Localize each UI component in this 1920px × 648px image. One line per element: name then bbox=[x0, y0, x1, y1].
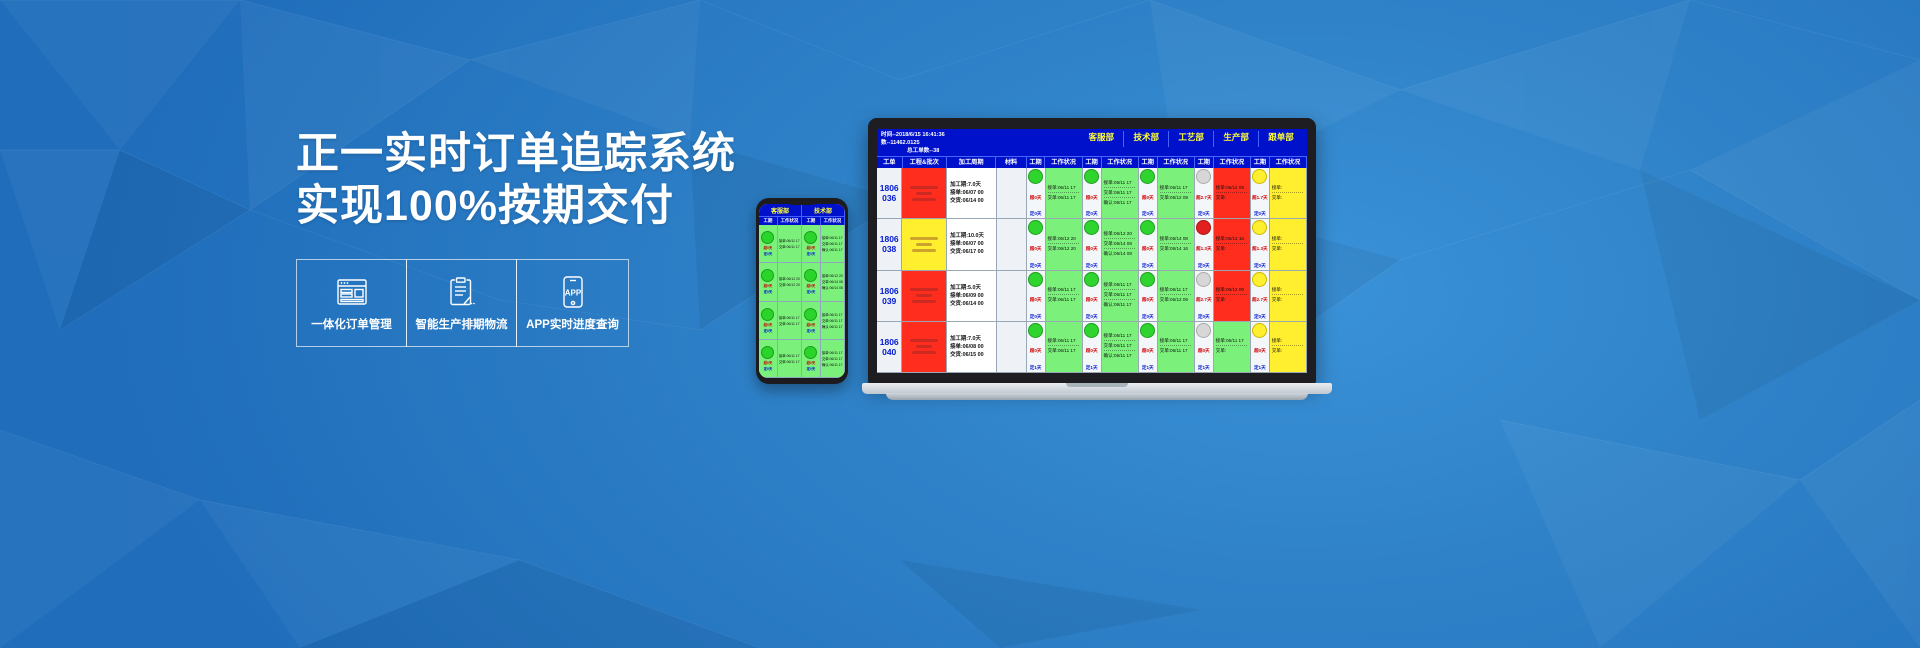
over-tag: 超0天 bbox=[1030, 297, 1042, 303]
over-tag: 超0天 bbox=[764, 245, 773, 250]
phone-status-cell: 接单:06/11 17交单:06/11 17确认:06/11 17 bbox=[821, 225, 845, 262]
status-line: 交单: bbox=[1216, 246, 1248, 253]
status-line: 接单: bbox=[1272, 185, 1304, 193]
fix-tag: 定0天 bbox=[807, 328, 816, 333]
fix-tag: 定0天 bbox=[807, 366, 816, 371]
status-line: 确认:06/11 17 bbox=[1104, 302, 1136, 309]
status-dot-icon bbox=[761, 346, 774, 359]
status-dot-icon bbox=[761, 269, 774, 282]
status-dot-icon bbox=[761, 308, 774, 321]
dashboard-header: 时间--2018/6/15 16:41:36 数--11462.0125 客服部… bbox=[877, 129, 1307, 156]
over-tag: 超0天 bbox=[1030, 195, 1042, 201]
fix-tag: 定0天 bbox=[764, 251, 773, 256]
phone-col-status-1: 工作状况 bbox=[778, 216, 802, 225]
status-line: 接单:06/11 17 bbox=[822, 312, 843, 317]
status-line: 接单:06/11 17 bbox=[822, 235, 843, 240]
mobile-app-icon: APP bbox=[562, 275, 584, 309]
over-tag: 超0天 bbox=[807, 245, 816, 250]
status-cell-2[interactable]: 接单:06/14 08交单:06/14 16 bbox=[1158, 219, 1195, 269]
cycle-line: 交货:06/17 00 bbox=[950, 248, 984, 256]
table-row[interactable]: 1806040加工期:7.0天接单:06/08 00交货:06/15 00超0天… bbox=[877, 322, 1307, 373]
status-dot-icon bbox=[1140, 220, 1155, 235]
phone-department-header: 客服部 技术部 bbox=[759, 204, 845, 216]
phone-table-row[interactable]: 超0天定0天接单:06/11 17交单:06/11 17超0天定0天接单:06/… bbox=[759, 340, 845, 378]
status-line: 交单:06/11 17 bbox=[1104, 190, 1136, 198]
status-cell-4[interactable]: 接单:交单: bbox=[1270, 322, 1307, 372]
over-tag: 超1.3天 bbox=[1196, 246, 1212, 252]
status-line: 接单:06/12 20 bbox=[1104, 231, 1136, 239]
status-line: 接单: bbox=[1272, 338, 1304, 346]
status-line: 接单:06/11 17 bbox=[1104, 333, 1136, 341]
phone-col-duration-1: 工期 bbox=[759, 216, 778, 225]
phone-status-cell: 接单:06/12 20交单:06/12 20 bbox=[778, 263, 802, 300]
status-dot-icon bbox=[1196, 323, 1211, 338]
status-dot-icon bbox=[804, 308, 817, 321]
over-tag: 超0天 bbox=[807, 283, 816, 288]
status-line: 接单:06/11 17 bbox=[822, 350, 843, 355]
duration-cell-1[interactable]: 超0天定0天 bbox=[1083, 168, 1102, 218]
status-line: 交单:06/11 17 bbox=[779, 321, 800, 326]
redacted-line bbox=[916, 243, 932, 246]
cycle-line: 交货:06/14 00 bbox=[950, 300, 984, 308]
fix-tag: 定0天 bbox=[1254, 211, 1266, 217]
status-line: 接单:06/11 17 bbox=[779, 353, 800, 358]
fix-tag: 定0天 bbox=[1198, 263, 1210, 269]
phone-duration-cell: 超0天定0天 bbox=[802, 302, 821, 339]
duration-cell-0[interactable]: 超0天定0天 bbox=[1027, 219, 1046, 269]
status-cell-2[interactable]: 接单:06/11 17交单:06/12 09 bbox=[1158, 168, 1195, 218]
order-number-cell: 1806040 bbox=[877, 322, 902, 372]
redacted-line bbox=[916, 345, 932, 348]
dashboard-row-list: 1806036加工期:7.0天接单:06/07 00交货:06/14 00超0天… bbox=[877, 168, 1307, 373]
over-tag: 超0天 bbox=[1030, 348, 1042, 354]
col-process: 工程&批次 bbox=[903, 157, 947, 168]
col-duration-3: 工期 bbox=[1195, 157, 1214, 168]
status-line: 交单:06/11 17 bbox=[1048, 348, 1080, 355]
order-line-1: 1806 bbox=[880, 286, 899, 296]
status-dot-icon bbox=[1252, 323, 1267, 338]
status-cell-1[interactable]: 接单:06/11 17交单:06/11 17确认:06/11 17 bbox=[1102, 271, 1139, 321]
status-cell-0[interactable]: 接单:06/11 17交单:06/11 17 bbox=[1046, 271, 1083, 321]
status-line: 接单:06/12 20 bbox=[822, 273, 843, 278]
status-cell-1[interactable]: 接单:06/11 17交单:06/11 17确认:06/11 17 bbox=[1102, 322, 1139, 372]
over-tag: 超0天 bbox=[764, 322, 773, 327]
status-line: 交单:06/11 17 bbox=[1048, 195, 1080, 202]
status-line: 接单:06/14 16 bbox=[1216, 236, 1248, 244]
fix-tag: 定0天 bbox=[1198, 211, 1210, 217]
order-line-2: 039 bbox=[882, 296, 896, 306]
status-line: 交单:06/14 08 bbox=[822, 279, 843, 284]
order-number-cell: 1806039 bbox=[877, 271, 902, 321]
phone-col-status-2: 工作状况 bbox=[821, 216, 845, 225]
process-batch-cell bbox=[902, 168, 947, 218]
duration-cell-0[interactable]: 超0天定0天 bbox=[1027, 168, 1046, 218]
redacted-line bbox=[912, 300, 936, 303]
status-line: 交单: bbox=[1272, 246, 1304, 253]
laptop-foot bbox=[886, 393, 1308, 400]
feature-label: 智能生产排期物流 bbox=[416, 316, 508, 332]
duration-cell-2[interactable]: 超0天定0天 bbox=[1139, 219, 1158, 269]
over-tag: 超1.7天 bbox=[1252, 195, 1268, 201]
status-line: 交单:06/12 09 bbox=[1160, 297, 1192, 304]
status-line: 交单: bbox=[1216, 195, 1248, 202]
order-line-2: 040 bbox=[882, 347, 896, 357]
fix-tag: 定1天 bbox=[1198, 365, 1210, 371]
dept-process: 工艺部 bbox=[1169, 131, 1214, 147]
over-tag: 超0天 bbox=[1086, 297, 1098, 303]
duration-cell-3[interactable]: 超2.7天定0天 bbox=[1195, 168, 1214, 218]
cycle-line: 加工期:7.0天 bbox=[950, 181, 981, 189]
status-line: 交单: bbox=[1272, 297, 1304, 304]
status-line: 接单:06/11 17 bbox=[779, 238, 800, 243]
status-line: 确认:06/11 17 bbox=[822, 362, 843, 367]
over-tag: 超0天 bbox=[807, 322, 816, 327]
order-line-2: 038 bbox=[882, 244, 896, 254]
phone-mockup: 客服部 技术部 工期 工作状况 工期 工作状况 超0天定0天接单:06/11 1… bbox=[756, 198, 848, 384]
redacted-line bbox=[910, 288, 938, 291]
fix-tag: 定0天 bbox=[764, 366, 773, 371]
headline-line-1: 正一实时订单追踪系统 bbox=[296, 128, 916, 180]
dashboard-department-header: 客服部 技术部 工艺部 生产部 跟单部 bbox=[1079, 131, 1303, 147]
phone-screen[interactable]: 客服部 技术部 工期 工作状况 工期 工作状况 超0天定0天接单:06/11 1… bbox=[759, 204, 845, 378]
over-tag: 超1.3天 bbox=[1252, 246, 1268, 252]
col-duration-2: 工期 bbox=[1139, 157, 1158, 168]
dashboard-timestamp: 时间--2018/6/15 16:41:36 bbox=[881, 131, 1079, 139]
status-dot-icon bbox=[1028, 169, 1043, 184]
redacted-line bbox=[912, 249, 936, 252]
status-line: 接单: bbox=[1272, 236, 1304, 244]
status-cell-2[interactable]: 接单:06/11 17交单:06/11 17 bbox=[1158, 322, 1195, 372]
phone-table-row[interactable]: 超0天定0天接单:06/11 17交单:06/11 17超0天定0天接单:06/… bbox=[759, 302, 845, 340]
over-tag: 超0天 bbox=[1142, 348, 1154, 354]
svg-text:APP: APP bbox=[564, 288, 581, 297]
laptop-mockup: 时间--2018/6/15 16:41:36 数--11462.0125 客服部… bbox=[862, 118, 1332, 418]
duration-cell-0[interactable]: 超0天定1天 bbox=[1027, 322, 1046, 372]
status-line: 接单: bbox=[1272, 287, 1304, 295]
dept-technical: 技术部 bbox=[1124, 131, 1169, 147]
status-cell-3[interactable]: 接单:06/11 17交单: bbox=[1214, 322, 1251, 372]
status-line: 确认:06/11 17 bbox=[822, 247, 843, 252]
duration-cell-1[interactable]: 超0天定0天 bbox=[1083, 271, 1102, 321]
status-line: 确认:06/11 17 bbox=[1104, 353, 1136, 360]
order-line-1: 1806 bbox=[880, 337, 899, 347]
status-dot-icon bbox=[1196, 272, 1211, 287]
status-line: 确认:06/11 17 bbox=[1104, 200, 1136, 207]
phone-status-cell: 接单:06/12 20交单:06/14 08确认:06/14 08 bbox=[821, 263, 845, 300]
laptop-screen[interactable]: 时间--2018/6/15 16:41:36 数--11462.0125 客服部… bbox=[877, 129, 1307, 373]
phone-status-cell: 接单:06/11 17交单:06/11 17确认:06/11 17 bbox=[821, 340, 845, 377]
phone-table-row[interactable]: 超0天定0天接单:06/12 20交单:06/12 20超0天定0天接单:06/… bbox=[759, 263, 845, 301]
status-line: 接单:06/12 20 bbox=[779, 276, 800, 281]
status-line: 接单:06/11 17 bbox=[1104, 180, 1136, 188]
status-dot-icon bbox=[1028, 220, 1043, 235]
dept-merchandising: 跟单部 bbox=[1259, 131, 1303, 147]
status-dot-icon bbox=[1140, 323, 1155, 338]
status-dot-icon bbox=[1196, 169, 1211, 184]
feature-app-tracking[interactable]: APP APP实时进度查询 bbox=[516, 259, 629, 347]
fix-tag: 定1天 bbox=[1142, 365, 1154, 371]
fix-tag: 定0天 bbox=[1142, 314, 1154, 320]
status-line: 交单:06/12 20 bbox=[1048, 246, 1080, 253]
duration-cell-4[interactable]: 超2.7天定0天 bbox=[1251, 271, 1270, 321]
phone-duration-cell: 超0天定0天 bbox=[802, 225, 821, 262]
status-cell-0[interactable]: 接单:06/11 17交单:06/11 17 bbox=[1046, 322, 1083, 372]
material-cell bbox=[997, 322, 1027, 372]
phone-table-row[interactable]: 超0天定0天接单:06/11 17交单:06/11 17超0天定0天接单:06/… bbox=[759, 225, 845, 263]
col-cycle: 加工周期 bbox=[947, 157, 997, 168]
cycle-cell: 加工期:10.0天接单:06/07 00交货:06/17 00 bbox=[947, 219, 997, 269]
status-line: 确认:06/11 17 bbox=[822, 324, 843, 329]
fix-tag: 定0天 bbox=[1086, 314, 1098, 320]
fix-tag: 定0天 bbox=[807, 251, 816, 256]
phone-status-cell: 接单:06/11 17交单:06/11 17 bbox=[778, 225, 802, 262]
phone-notch bbox=[787, 200, 817, 205]
fix-tag: 定0天 bbox=[1030, 211, 1042, 217]
status-cell-3[interactable]: 接单:06/14 16交单: bbox=[1214, 219, 1251, 269]
col-order: 工单 bbox=[877, 157, 903, 168]
feature-label: 一体化订单管理 bbox=[311, 316, 392, 332]
phone-status-cell: 接单:06/11 17交单:06/11 17 bbox=[778, 340, 802, 377]
over-tag: 超0天 bbox=[1142, 246, 1154, 252]
status-dot-icon bbox=[1140, 169, 1155, 184]
fix-tag: 定1天 bbox=[1086, 365, 1098, 371]
redacted-line bbox=[912, 351, 936, 354]
phone-status-cell: 接单:06/11 17交单:06/11 17 bbox=[778, 302, 802, 339]
over-tag: 超2.7天 bbox=[1196, 297, 1212, 303]
cycle-line: 加工期:5.0天 bbox=[950, 284, 981, 292]
over-tag: 超0天 bbox=[1142, 297, 1154, 303]
status-cell-4[interactable]: 接单:交单: bbox=[1270, 271, 1307, 321]
col-status-1: 工作状况 bbox=[1102, 157, 1139, 168]
status-line: 接单:06/14 08 bbox=[1160, 236, 1192, 244]
status-cell-0[interactable]: 接单:06/12 20交单:06/12 20 bbox=[1046, 219, 1083, 269]
status-line: 接单:06/11 17 bbox=[1160, 185, 1192, 193]
phone-dept-customer-service: 客服部 bbox=[759, 204, 802, 216]
order-line-2: 036 bbox=[882, 193, 896, 203]
status-line: 交单: bbox=[1216, 348, 1248, 355]
col-duration-1: 工期 bbox=[1083, 157, 1102, 168]
over-tag: 超0天 bbox=[1086, 195, 1098, 201]
cycle-line: 接单:06/08 00 bbox=[950, 343, 984, 351]
duration-cell-4[interactable]: 超1.3天定0天 bbox=[1251, 219, 1270, 269]
status-cell-1[interactable]: 接单:06/12 20交单:06/14 08确认:06/14 08 bbox=[1102, 219, 1139, 269]
status-line: 确认:06/14 08 bbox=[1104, 251, 1136, 258]
status-dot-icon bbox=[1084, 272, 1099, 287]
status-line: 交单:06/11 17 bbox=[1048, 297, 1080, 304]
duration-cell-4[interactable]: 超1.7天定0天 bbox=[1251, 168, 1270, 218]
dashboard-meta-row: 时间--2018/6/15 16:41:36 数--11462.0125 客服部… bbox=[881, 131, 1303, 147]
over-tag: 超0天 bbox=[1142, 195, 1154, 201]
status-cell-1[interactable]: 接单:06/11 17交单:06/11 17确认:06/11 17 bbox=[1102, 168, 1139, 218]
phone-duration-cell: 超0天定0天 bbox=[759, 302, 778, 339]
dept-customer-service: 客服部 bbox=[1079, 131, 1124, 147]
redacted-line bbox=[916, 192, 932, 195]
cycle-line: 交货:06/15 00 bbox=[950, 351, 984, 359]
status-line: 交单:06/14 08 bbox=[1104, 241, 1136, 249]
status-dot-icon bbox=[1252, 169, 1267, 184]
laptop-lid: 时间--2018/6/15 16:41:36 数--11462.0125 客服部… bbox=[868, 118, 1316, 384]
status-line: 接单:06/11 17 bbox=[1216, 338, 1248, 346]
cycle-cell: 加工期:5.0天接单:06/09 00交货:06/14 00 bbox=[947, 271, 997, 321]
status-cell-4[interactable]: 接单:交单: bbox=[1270, 168, 1307, 218]
fix-tag: 定1天 bbox=[1030, 365, 1042, 371]
material-cell bbox=[997, 219, 1027, 269]
duration-cell-2[interactable]: 超0天定0天 bbox=[1139, 168, 1158, 218]
status-dot-icon bbox=[1084, 169, 1099, 184]
over-tag: 超0天 bbox=[1086, 246, 1098, 252]
fix-tag: 定0天 bbox=[1086, 263, 1098, 269]
fix-tag: 定0天 bbox=[1030, 263, 1042, 269]
status-line: 接单:06/11 17 bbox=[1048, 287, 1080, 295]
status-line: 交单:06/11 17 bbox=[822, 318, 843, 323]
table-row[interactable]: 1806039加工期:5.0天接单:06/09 00交货:06/14 00超0天… bbox=[877, 271, 1307, 322]
status-line: 接单:06/11 17 bbox=[779, 315, 800, 320]
process-batch-cell bbox=[902, 219, 947, 269]
status-cell-0[interactable]: 接单:06/11 17交单:06/11 17 bbox=[1046, 168, 1083, 218]
process-batch-cell bbox=[902, 322, 947, 372]
order-number-cell: 1806036 bbox=[877, 168, 902, 218]
phone-duration-cell: 超0天定0天 bbox=[802, 263, 821, 300]
status-line: 交单:06/11 17 bbox=[1160, 348, 1192, 355]
over-tag: 超0天 bbox=[1254, 348, 1266, 354]
status-line: 确认:06/14 08 bbox=[822, 285, 843, 290]
duration-cell-3[interactable]: 超2.7天定0天 bbox=[1195, 271, 1214, 321]
status-dot-icon bbox=[1028, 323, 1043, 338]
order-line-1: 1806 bbox=[880, 234, 899, 244]
status-line: 交单: bbox=[1272, 195, 1304, 202]
phone-row-list: 超0天定0天接单:06/11 17交单:06/11 17超0天定0天接单:06/… bbox=[759, 225, 845, 378]
feature-order-management[interactable]: 一体化订单管理 bbox=[296, 259, 407, 347]
status-line: 交单:06/12 20 bbox=[779, 282, 800, 287]
over-tag: 超0天 bbox=[764, 283, 773, 288]
phone-duration-cell: 超0天定0天 bbox=[759, 340, 778, 377]
duration-cell-0[interactable]: 超0天定0天 bbox=[1027, 271, 1046, 321]
phone-duration-cell: 超0天定0天 bbox=[759, 263, 778, 300]
duration-cell-2[interactable]: 超0天定0天 bbox=[1139, 271, 1158, 321]
status-line: 交单:06/11 17 bbox=[779, 359, 800, 364]
fix-tag: 定0天 bbox=[1254, 263, 1266, 269]
fix-tag: 定0天 bbox=[1198, 314, 1210, 320]
cycle-line: 接单:06/07 00 bbox=[950, 189, 984, 197]
status-dot-icon bbox=[1028, 272, 1043, 287]
process-batch-cell bbox=[902, 271, 947, 321]
fix-tag: 定0天 bbox=[764, 328, 773, 333]
fix-tag: 定0天 bbox=[1142, 263, 1154, 269]
cycle-cell: 加工期:7.0天接单:06/08 00交货:06/15 00 bbox=[947, 322, 997, 372]
status-line: 接单:06/11 17 bbox=[1104, 282, 1136, 290]
order-number-cell: 1806038 bbox=[877, 219, 902, 269]
table-row[interactable]: 1806036加工期:7.0天接单:06/07 00交货:06/14 00超0天… bbox=[877, 168, 1307, 219]
fix-tag: 定0天 bbox=[1030, 314, 1042, 320]
status-line: 接单:06/11 17 bbox=[1160, 338, 1192, 346]
dashboard-icon bbox=[337, 275, 367, 309]
phone-col-duration-2: 工期 bbox=[802, 216, 821, 225]
dashboard-total-orders: 总工单数--38 bbox=[881, 147, 1303, 155]
status-cell-2[interactable]: 接单:06/11 17交单:06/12 09 bbox=[1158, 271, 1195, 321]
fix-tag: 定0天 bbox=[1254, 314, 1266, 320]
redacted-line bbox=[916, 294, 932, 297]
status-cell-4[interactable]: 接单:交单: bbox=[1270, 219, 1307, 269]
dashboard-column-header: 工单工程&批次加工周期材料工期工作状况工期工作状况工期工作状况工期工作状况工期工… bbox=[877, 156, 1307, 168]
status-dot-icon bbox=[1084, 323, 1099, 338]
status-line: 交单:06/12 09 bbox=[1160, 195, 1192, 202]
duration-cell-4[interactable]: 超0天定1天 bbox=[1251, 322, 1270, 372]
duration-cell-2[interactable]: 超0天定1天 bbox=[1139, 322, 1158, 372]
status-dot-icon bbox=[804, 346, 817, 359]
status-line: 交单: bbox=[1216, 297, 1248, 304]
cycle-cell: 加工期:7.0天接单:06/07 00交货:06/14 00 bbox=[947, 168, 997, 218]
col-status-2: 工作状况 bbox=[1158, 157, 1195, 168]
status-dot-icon bbox=[804, 269, 817, 282]
dept-production: 生产部 bbox=[1214, 131, 1259, 147]
clipboard-icon bbox=[449, 275, 475, 309]
material-cell bbox=[997, 168, 1027, 218]
status-dot-icon bbox=[804, 231, 817, 244]
status-line: 接单:06/11 17 bbox=[1160, 287, 1192, 295]
redacted-line bbox=[910, 339, 938, 342]
dashboard-meta-left: 时间--2018/6/15 16:41:36 数--11462.0125 bbox=[881, 131, 1079, 147]
over-tag: 超0天 bbox=[807, 360, 816, 365]
over-tag: 超0天 bbox=[1086, 348, 1098, 354]
phone-status-cell: 接单:06/11 17交单:06/11 17确认:06/11 17 bbox=[821, 302, 845, 339]
status-dot-icon bbox=[1140, 272, 1155, 287]
fix-tag: 定0天 bbox=[764, 289, 773, 294]
status-cell-3[interactable]: 接单:06/12 09交单: bbox=[1214, 271, 1251, 321]
status-line: 交单: bbox=[1272, 348, 1304, 355]
fix-tag: 定1天 bbox=[1254, 365, 1266, 371]
cycle-line: 加工期:7.0天 bbox=[950, 335, 981, 343]
status-cell-3[interactable]: 接单:06/12 09交单: bbox=[1214, 168, 1251, 218]
duration-cell-1[interactable]: 超0天定0天 bbox=[1083, 219, 1102, 269]
redacted-line bbox=[912, 198, 936, 201]
feature-label: APP实时进度查询 bbox=[526, 316, 619, 332]
cycle-line: 加工期:10.0天 bbox=[950, 232, 984, 240]
duration-cell-3[interactable]: 超0天定1天 bbox=[1195, 322, 1214, 372]
over-tag: 超2.7天 bbox=[1196, 195, 1212, 201]
status-line: 交单:06/14 16 bbox=[1160, 246, 1192, 253]
col-material: 材料 bbox=[996, 157, 1026, 168]
status-dot-icon bbox=[761, 231, 774, 244]
status-line: 接单:06/12 09 bbox=[1216, 185, 1248, 193]
redacted-line bbox=[910, 186, 938, 189]
order-line-1: 1806 bbox=[880, 183, 899, 193]
col-status-3: 工作状况 bbox=[1214, 157, 1251, 168]
cycle-line: 交货:06/14 00 bbox=[950, 197, 984, 205]
status-dot-icon bbox=[1084, 220, 1099, 235]
cycle-line: 接单:06/07 00 bbox=[950, 240, 984, 248]
dashboard-count: 数--11462.0125 bbox=[881, 139, 1079, 147]
fix-tag: 定0天 bbox=[1086, 211, 1098, 217]
status-line: 接单:06/11 17 bbox=[1048, 185, 1080, 193]
feature-smart-scheduling[interactable]: 智能生产排期物流 bbox=[406, 259, 517, 347]
status-line: 交单:06/11 17 bbox=[822, 241, 843, 246]
col-status-4: 工作状况 bbox=[1270, 157, 1307, 168]
status-line: 交单:06/11 17 bbox=[822, 356, 843, 361]
phone-column-header: 工期 工作状况 工期 工作状况 bbox=[759, 216, 845, 225]
status-dot-icon bbox=[1196, 220, 1211, 235]
status-line: 交单:06/11 17 bbox=[1104, 292, 1136, 300]
col-duration-4: 工期 bbox=[1251, 157, 1270, 168]
fix-tag: 定0天 bbox=[1142, 211, 1154, 217]
duration-cell-1[interactable]: 超0天定1天 bbox=[1083, 322, 1102, 372]
material-cell bbox=[997, 271, 1027, 321]
status-line: 接单:06/12 20 bbox=[1048, 236, 1080, 244]
table-row[interactable]: 1806038加工期:10.0天接单:06/07 00交货:06/17 00超0… bbox=[877, 219, 1307, 270]
duration-cell-3[interactable]: 超1.3天定0天 bbox=[1195, 219, 1214, 269]
over-tag: 超0天 bbox=[764, 360, 773, 365]
redacted-line bbox=[910, 237, 938, 240]
fix-tag: 定0天 bbox=[807, 289, 816, 294]
